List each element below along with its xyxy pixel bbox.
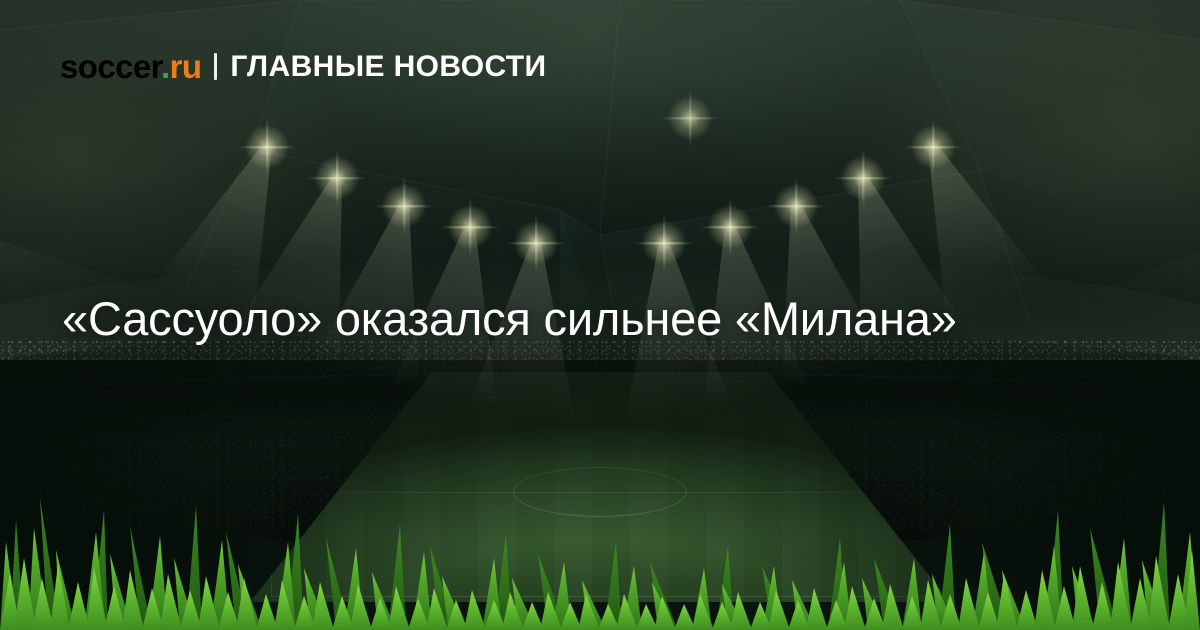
floodlight-icon xyxy=(324,165,350,191)
site-header: soccer.ru ГЛАВНЫЕ НОВОСТИ xyxy=(60,50,546,83)
soccer-ru-logo[interactable]: soccer.ru xyxy=(60,50,201,83)
article-headline: «Сассуоло» оказался сильнее «Милана» xyxy=(62,289,962,348)
floodlight-icon xyxy=(523,230,549,256)
logo-tld-ru: ru xyxy=(170,48,202,85)
floodlight-icon xyxy=(717,214,743,240)
header-divider xyxy=(214,53,217,80)
floodlight-icon xyxy=(457,214,483,240)
section-title: ГЛАВНЫЕ НОВОСТИ xyxy=(230,52,546,82)
floodlight-icon xyxy=(391,193,417,219)
logo-word-soccer: soccer xyxy=(60,48,161,85)
floodlight-icon xyxy=(850,165,876,191)
floodlight-icon xyxy=(783,193,809,219)
grass-foreground xyxy=(0,480,1200,630)
logo-dot: . xyxy=(161,48,170,85)
news-share-card: soccer.ru ГЛАВНЫЕ НОВОСТИ «Сассуоло» ока… xyxy=(0,0,1200,630)
floodlight-icon xyxy=(677,105,703,131)
floodlight-icon xyxy=(651,230,677,256)
floodlight-icon xyxy=(920,134,946,160)
floodlight-icon xyxy=(254,134,280,160)
